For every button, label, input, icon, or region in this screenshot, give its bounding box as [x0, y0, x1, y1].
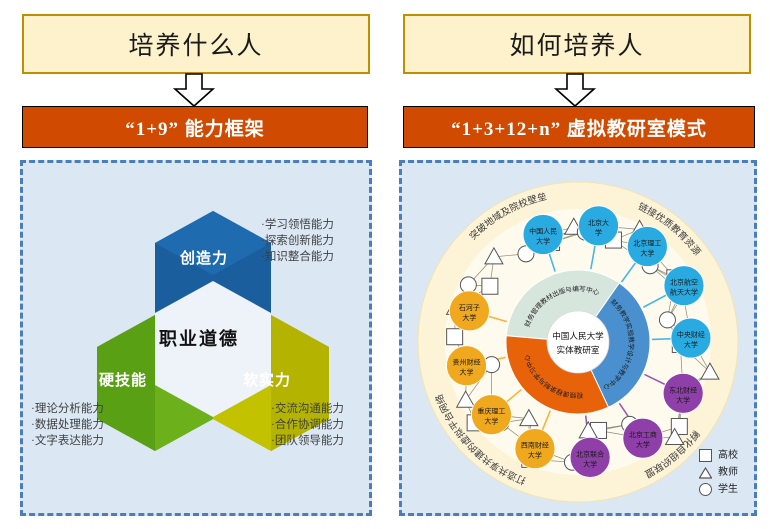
university-node-label: 北京联合	[576, 449, 604, 458]
university-node-label: 大学	[640, 249, 654, 258]
student-circle-icon	[659, 312, 675, 328]
university-node-label: 大学	[636, 440, 650, 449]
legend-label: 教师	[718, 465, 738, 480]
right-dashed-panel: 突破地域及院校壁垒链接优质教育资源孵化自组织联盟打造共享共建的虚拟平台网络中国人…	[399, 160, 757, 516]
lobe-label-soft-power: 软实力	[243, 369, 291, 390]
bullet-item: 探索创新能力	[261, 233, 334, 249]
university-node-label: 西南财经	[521, 441, 549, 450]
network-legend: 高校 教师 学生	[699, 448, 738, 499]
triangle-icon	[699, 467, 712, 479]
bullet-item: 文字表达能力	[31, 433, 104, 449]
left-column: 培养什么人 “1+9” 能力框架	[0, 0, 385, 529]
legend-label: 学生	[718, 482, 738, 497]
university-node-label: 北京大	[588, 218, 609, 227]
university-node-label: 大学	[528, 451, 542, 460]
lobe-label-creativity: 创造力	[180, 247, 228, 268]
university-node-label: 北京理工	[633, 239, 661, 248]
bullets-hard-skills: 理论分析能力 数据处理能力 文字表达能力	[31, 401, 104, 449]
square-icon	[699, 449, 712, 462]
university-node-label: 大学	[536, 237, 550, 246]
virtual-teaching-network-diagram: 突破地域及院校壁垒链接优质教育资源孵化自组织联盟打造共享共建的虚拟平台网络中国人…	[410, 179, 730, 499]
left-header-text: 培养什么人	[128, 26, 263, 62]
university-node-label: 大学	[684, 340, 698, 349]
bullets-creativity: 学习领悟能力 探索创新能力 知识整合能力	[261, 217, 334, 265]
university-square-icon	[447, 329, 463, 345]
university-node-label: 大学	[484, 417, 498, 426]
student-circle-icon	[460, 277, 476, 293]
legend-row-student: 学生	[699, 482, 738, 497]
lobe-label-hard-skills: 硬技能	[99, 369, 147, 390]
university-node-label: 石河子	[459, 304, 480, 312]
university-node-label: 大学	[459, 368, 473, 377]
university-node-label: 北京工商	[629, 430, 657, 439]
bullet-item: 学习领悟能力	[261, 217, 334, 233]
university-node-label: 航天大学	[670, 288, 698, 297]
legend-row-teacher: 教师	[699, 465, 738, 480]
left-header-box: 培养什么人	[22, 14, 370, 74]
hub-center	[547, 311, 609, 373]
university-node-label: 东北财经	[669, 385, 697, 394]
circle-icon	[699, 483, 712, 496]
right-header-box: 如何培养人	[403, 14, 751, 74]
university-node-label: 大学	[676, 395, 690, 404]
university-node-label: 中国人民	[529, 227, 557, 236]
left-down-arrow	[168, 72, 220, 108]
university-node-label: 大学	[583, 459, 597, 468]
bullet-item: 交流沟通能力	[271, 401, 344, 417]
bullet-item: 合作协调能力	[271, 417, 344, 433]
university-node-label: 重庆理工	[477, 407, 505, 416]
right-down-arrow	[549, 72, 601, 108]
hub-center-label: 实体教研室	[557, 344, 600, 355]
university-node-label: 贵州财经	[452, 358, 480, 367]
left-band-text: “1+9” 能力框架	[125, 114, 265, 141]
left-dashed-panel: 创造力 硬技能 软实力 职业道德 学习领悟能力 探索创新能力 知识整合能力 理论…	[20, 160, 372, 516]
right-band-text: “1+3+12+n” 虚拟教研室模式	[451, 114, 707, 141]
right-header-text: 如何培养人	[509, 26, 644, 62]
legend-label: 高校	[718, 448, 738, 463]
right-column: 如何培养人 “1+3+12+n” 虚拟教研室模式 突破地域及院校壁垒链接优质教育…	[385, 0, 770, 529]
bullet-item: 数据处理能力	[31, 417, 104, 433]
right-orange-band: “1+3+12+n” 虚拟教研室模式	[403, 106, 755, 148]
legend-row-university: 高校	[699, 448, 738, 463]
bullet-item: 团队领导能力	[271, 433, 344, 449]
university-node-label: 北京航空	[670, 278, 698, 287]
university-node-label: 中央财经	[677, 330, 705, 339]
university-node-label: 大学	[462, 313, 476, 322]
bullets-soft-power: 交流沟通能力 合作协调能力 团队领导能力	[271, 401, 344, 449]
university-node-label: 学	[595, 228, 602, 237]
left-orange-band: “1+9” 能力框架	[22, 106, 368, 148]
university-square-icon	[482, 278, 498, 294]
core-label-professional-ethics: 职业道德	[159, 325, 239, 351]
bullet-item: 知识整合能力	[261, 249, 334, 265]
hub-center-label: 中国人民大学	[552, 330, 604, 341]
bullet-item: 理论分析能力	[31, 401, 104, 417]
